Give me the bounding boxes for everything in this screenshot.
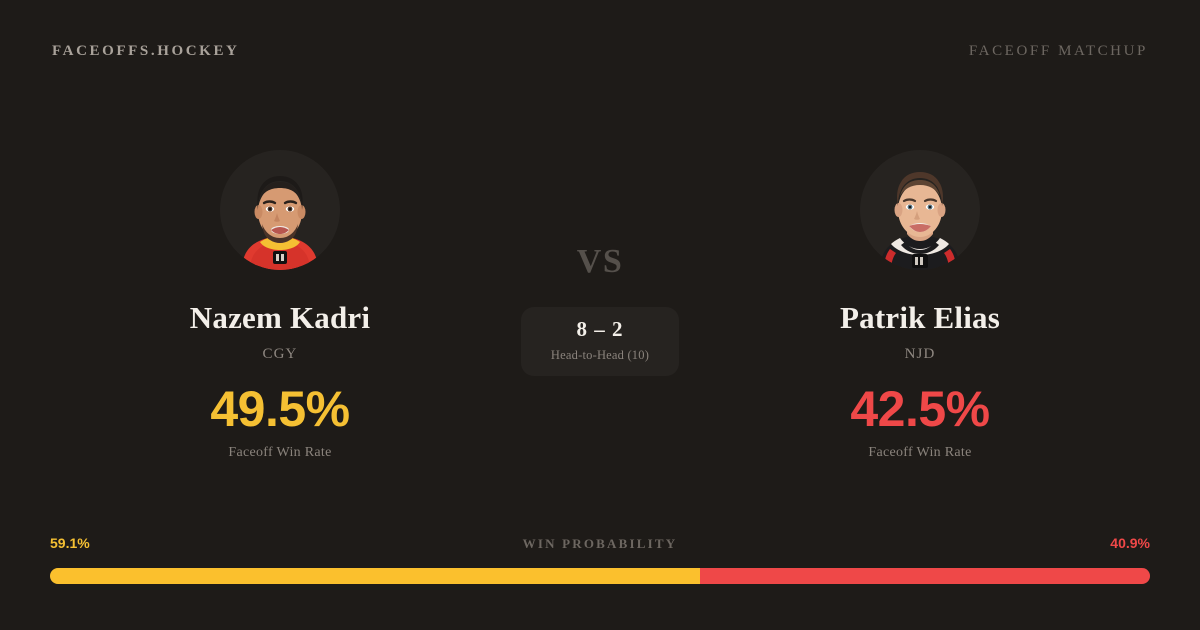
win-probability-section: 59.1% WIN PROBABILITY 40.9% [50,535,1150,584]
head-to-head-score: 8 – 2 [577,319,624,340]
player-win-rate-label-right: Faceoff Win Rate [868,445,971,461]
player-card-right[interactable]: Patrik Elias NJD 42.5% Faceoff Win Rate [700,150,1140,461]
head-to-head-label: Head-to-Head (10) [551,348,649,363]
player-team-left: CGY [263,346,298,363]
versus-block: VS 8 – 2 Head-to-Head (10) [500,150,700,376]
header: FACEOFFS.HOCKEY FACEOFF MATCHUP [0,0,1200,92]
brand-logo[interactable]: FACEOFFS.HOCKEY [52,43,239,60]
player-win-rate-left: 49.5% [210,384,349,434]
player-name-left: Nazem Kadri [190,302,370,335]
player-headshot-kadri-icon [220,150,340,270]
faceoff-matchup-card: FACEOFFS.HOCKEY FACEOFF MATCHUP [0,0,1200,630]
player-card-left[interactable]: Nazem Kadri CGY 49.5% Faceoff Win Rate [60,150,500,461]
player-win-rate-label-left: Faceoff Win Rate [228,445,331,461]
matchup-row: Nazem Kadri CGY 49.5% Faceoff Win Rate V… [0,150,1200,461]
player-win-rate-right: 42.5% [850,384,989,434]
versus-label: VS [577,245,623,279]
win-probability-bar-left-segment [50,568,700,584]
win-probability-title: WIN PROBABILITY [50,536,1150,552]
win-probability-bar-right-segment [700,568,1150,584]
player-headshot-elias-icon [860,150,980,270]
head-to-head-pill[interactable]: 8 – 2 Head-to-Head (10) [521,307,679,376]
player-name-right: Patrik Elias [840,302,1000,335]
win-probability-values: 59.1% WIN PROBABILITY 40.9% [50,535,1150,557]
header-section-label: FACEOFF MATCHUP [969,43,1148,60]
win-probability-bar[interactable] [50,568,1150,584]
player-team-right: NJD [905,346,936,363]
win-probability-right-value: 40.9% [1110,535,1150,551]
